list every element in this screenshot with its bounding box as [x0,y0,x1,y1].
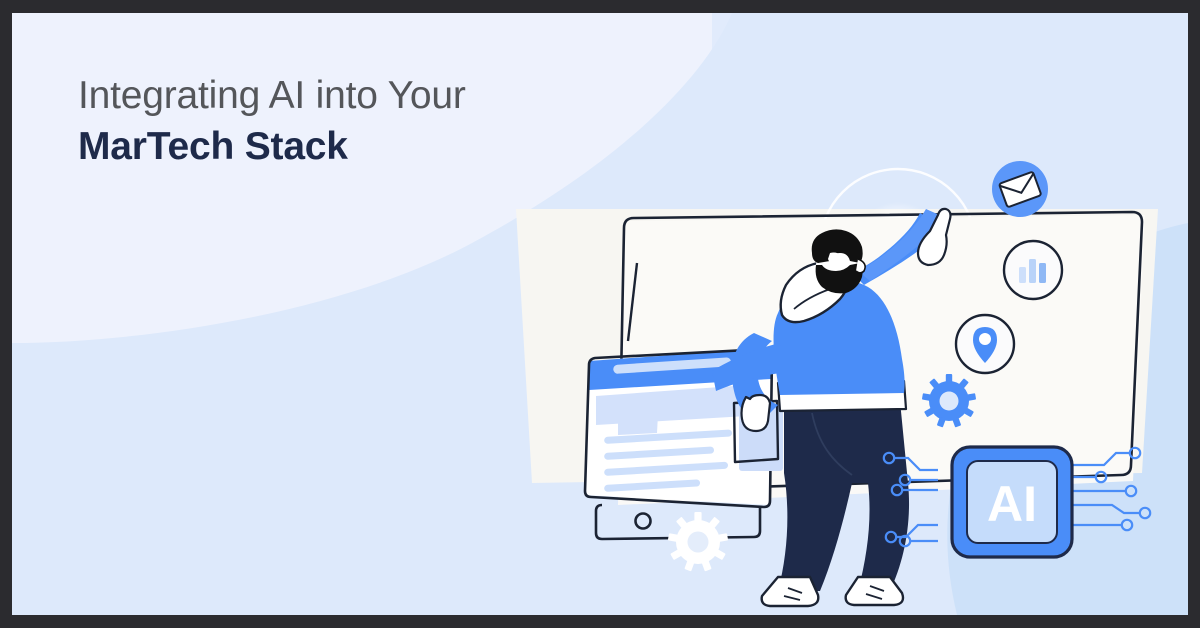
envelope-icon [992,161,1048,217]
martech-illustration: AI [12,13,1188,615]
shoe-right [846,577,903,605]
ai-chip-icon: AI [952,447,1072,557]
holding-hand [742,395,771,431]
ai-chip-label: AI [987,476,1037,532]
banner-canvas: AI Integrating AI into Your MarTech Stac… [12,13,1188,615]
screenshot-frame: AI Integrating AI into Your MarTech Stac… [0,0,1200,628]
location-pin-icon [956,315,1014,373]
bar-chart-icon [1004,241,1062,299]
